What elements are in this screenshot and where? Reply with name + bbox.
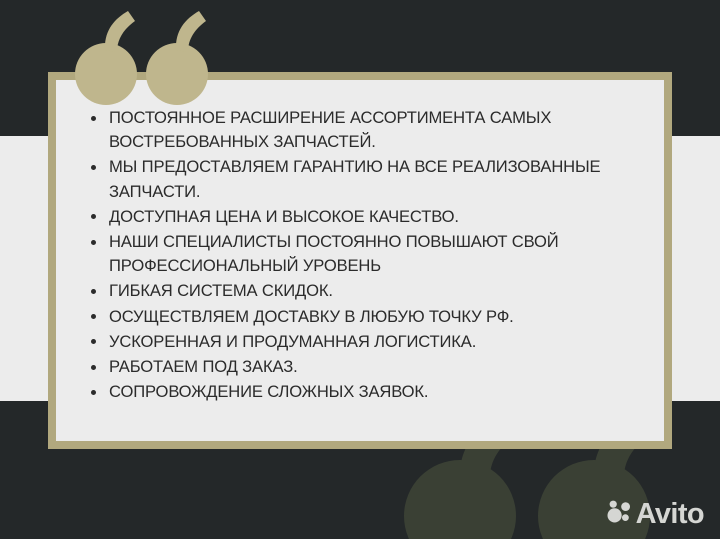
list-item: Осуществляем доставку в любую точку РФ. [86, 305, 638, 329]
list-item: Сопровождение сложных заявок. [86, 380, 638, 404]
benefits-list: Постоянное расширение ассортимента самых… [86, 106, 638, 404]
list-item: Работаем под заказ. [86, 355, 638, 379]
quote-card: Постоянное расширение ассортимента самых… [48, 72, 672, 449]
list-item: Доступная цена и высокое качество. [86, 205, 638, 229]
avito-logo-text: Avito [636, 500, 704, 529]
avito-dots-icon [607, 500, 632, 529]
list-item: Постоянное расширение ассортимента самых… [86, 106, 638, 154]
list-item: Наши специалисты постоянно повышают свой… [86, 230, 638, 278]
list-item: Мы предоставляем гарантию на все реализо… [86, 155, 638, 203]
list-item: Гибкая система скидок. [86, 279, 638, 303]
avito-logo: Avito [607, 500, 704, 529]
list-item: Ускоренная и продуманная логистика. [86, 330, 638, 354]
quote-card-inner: Постоянное расширение ассортимента самых… [56, 80, 664, 441]
double-quote-icon [72, 8, 212, 112]
poster-canvas: Постоянное расширение ассортимента самых… [0, 0, 720, 539]
